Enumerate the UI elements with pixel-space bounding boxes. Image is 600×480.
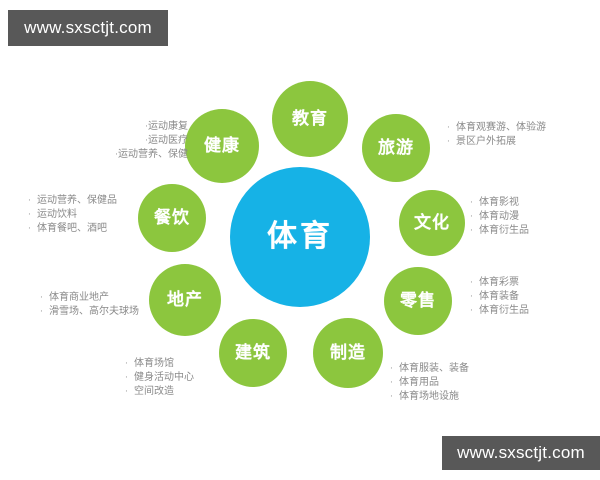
- center-node-label: 体育: [267, 222, 333, 252]
- bullet-item: · 体育场地设施: [390, 390, 505, 404]
- bullet-text: 体育装备: [479, 290, 519, 304]
- node-jiankang[interactable]: 健康: [185, 109, 259, 183]
- bullet-dot-icon: ·: [125, 371, 134, 385]
- bullet-dot-icon: ·: [109, 148, 118, 162]
- bullet-dot-icon: ·: [447, 135, 456, 149]
- bullets-canyin: · 运动营养、保健品 · 运动饮料 · 体育餐吧、酒吧: [28, 194, 146, 236]
- bullet-dot-icon: ·: [28, 222, 37, 236]
- bullet-dot-icon: ·: [390, 362, 399, 376]
- bullet-item: · 体育服装、装备: [390, 362, 505, 376]
- bullet-dot-icon: ·: [470, 210, 479, 224]
- diagram-canvas: www.sxsctjt.com www.sxsctjt.com 体育 教育 旅游…: [0, 0, 600, 480]
- bullet-dot-icon: ·: [470, 276, 479, 290]
- bullet-dot-icon: ·: [470, 290, 479, 304]
- bullet-item: · 健身活动中心: [125, 371, 230, 385]
- node-lvyou-label: 旅游: [378, 140, 414, 157]
- bullet-dot-icon: ·: [125, 385, 134, 399]
- bullet-item: · 滑雪场、高尔夫球场: [40, 305, 158, 319]
- bullet-dot-icon: ·: [125, 357, 134, 371]
- bullet-text: 运动饮料: [37, 208, 77, 222]
- bullet-text: 景区户外拓展: [456, 135, 516, 149]
- node-dichan[interactable]: 地产: [149, 264, 221, 336]
- node-lvyou[interactable]: 旅游: [362, 114, 430, 182]
- bullet-text: 体育彩票: [479, 276, 519, 290]
- node-jiaoyu[interactable]: 教育: [272, 81, 348, 157]
- bullet-item: · 体育动漫: [470, 210, 570, 224]
- bullet-text: 体育动漫: [479, 210, 519, 224]
- bullet-text: 体育场馆: [134, 357, 174, 371]
- bullet-item: · 空间改造: [125, 385, 230, 399]
- bullet-text: 体育衍生品: [479, 224, 529, 238]
- bullet-dot-icon: ·: [390, 376, 399, 390]
- bullet-text: 体育服装、装备: [399, 362, 469, 376]
- node-dichan-label: 地产: [167, 292, 203, 309]
- bullet-text: 体育场地设施: [399, 390, 459, 404]
- node-lingshou[interactable]: 零售: [384, 267, 452, 335]
- bullet-item: · 体育衍生品: [470, 304, 570, 318]
- bullets-wenhua: · 体育影视 · 体育动漫 · 体育衍生品: [470, 196, 570, 238]
- bullet-item: · 体育场馆: [125, 357, 230, 371]
- bullet-text: 运动营养、保健: [118, 148, 188, 162]
- bullet-text: 运动医疗: [148, 134, 188, 148]
- bullet-text: 体育餐吧、酒吧: [37, 222, 107, 236]
- bullets-lingshou: · 体育彩票 · 体育装备 · 体育衍生品: [470, 276, 570, 318]
- bullets-jianzhu: · 体育场馆 · 健身活动中心 · 空间改造: [125, 357, 230, 399]
- bullet-item: · 运动营养、保健品: [28, 194, 146, 208]
- bullet-text: 体育用品: [399, 376, 439, 390]
- bullet-text: 运动康复: [148, 120, 188, 134]
- bullet-text: 体育观赛游、体验游: [456, 121, 546, 135]
- bullet-item: · 景区户外拓展: [447, 135, 577, 149]
- node-jiankang-label: 健康: [204, 138, 240, 155]
- bullet-dot-icon: ·: [139, 120, 148, 134]
- node-lingshou-label: 零售: [400, 293, 436, 310]
- bullet-item: · 体育餐吧、酒吧: [28, 222, 146, 236]
- bullet-dot-icon: ·: [28, 194, 37, 208]
- center-node-sports[interactable]: 体育: [230, 167, 370, 307]
- bullet-item: · 运动康复: [98, 120, 188, 134]
- bullet-dot-icon: ·: [470, 224, 479, 238]
- bullet-dot-icon: ·: [28, 208, 37, 222]
- bullet-item: · 体育衍生品: [470, 224, 570, 238]
- node-wenhua-label: 文化: [414, 215, 450, 232]
- bullet-dot-icon: ·: [470, 196, 479, 210]
- sports-industry-bubble-diagram: 体育 教育 旅游 文化 零售 制造 建筑 地产 餐饮 健康: [0, 0, 600, 480]
- bullet-text: 健身活动中心: [134, 371, 194, 385]
- node-zhizao[interactable]: 制造: [313, 318, 383, 388]
- node-jiaoyu-label: 教育: [292, 111, 328, 128]
- bullet-dot-icon: ·: [40, 305, 49, 319]
- bullet-item: · 体育装备: [470, 290, 570, 304]
- bullet-text: 体育影视: [479, 196, 519, 210]
- bullet-item: · 运动饮料: [28, 208, 146, 222]
- bullet-dot-icon: ·: [470, 304, 479, 318]
- node-jianzhu-label: 建筑: [235, 345, 271, 362]
- node-canyin[interactable]: 餐饮: [138, 184, 206, 252]
- bullet-dot-icon: ·: [390, 390, 399, 404]
- bullet-item: · 运动营养、保健: [98, 148, 188, 162]
- bullet-dot-icon: ·: [447, 121, 456, 135]
- node-wenhua[interactable]: 文化: [399, 190, 465, 256]
- bullets-dichan: · 体育商业地产 · 滑雪场、高尔夫球场: [40, 291, 158, 319]
- bullet-dot-icon: ·: [40, 291, 49, 305]
- bullets-jiankang: · 运动康复 · 运动医疗 · 运动营养、保健: [98, 120, 188, 162]
- bullet-item: · 运动医疗: [98, 134, 188, 148]
- bullet-dot-icon: ·: [139, 134, 148, 148]
- bullet-text: 体育衍生品: [479, 304, 529, 318]
- bullet-item: · 体育用品: [390, 376, 505, 390]
- bullet-item: · 体育影视: [470, 196, 570, 210]
- bullet-item: · 体育观赛游、体验游: [447, 121, 577, 135]
- bullet-item: · 体育彩票: [470, 276, 570, 290]
- bullets-lvyou: · 体育观赛游、体验游 · 景区户外拓展: [447, 121, 577, 149]
- bullet-text: 空间改造: [134, 385, 174, 399]
- node-canyin-label: 餐饮: [154, 210, 190, 227]
- bullets-zhizao: · 体育服装、装备 · 体育用品 · 体育场地设施: [390, 362, 505, 404]
- bullet-text: 滑雪场、高尔夫球场: [49, 305, 139, 319]
- node-zhizao-label: 制造: [330, 345, 366, 362]
- bullet-text: 体育商业地产: [49, 291, 109, 305]
- bullet-item: · 体育商业地产: [40, 291, 158, 305]
- bullet-text: 运动营养、保健品: [37, 194, 117, 208]
